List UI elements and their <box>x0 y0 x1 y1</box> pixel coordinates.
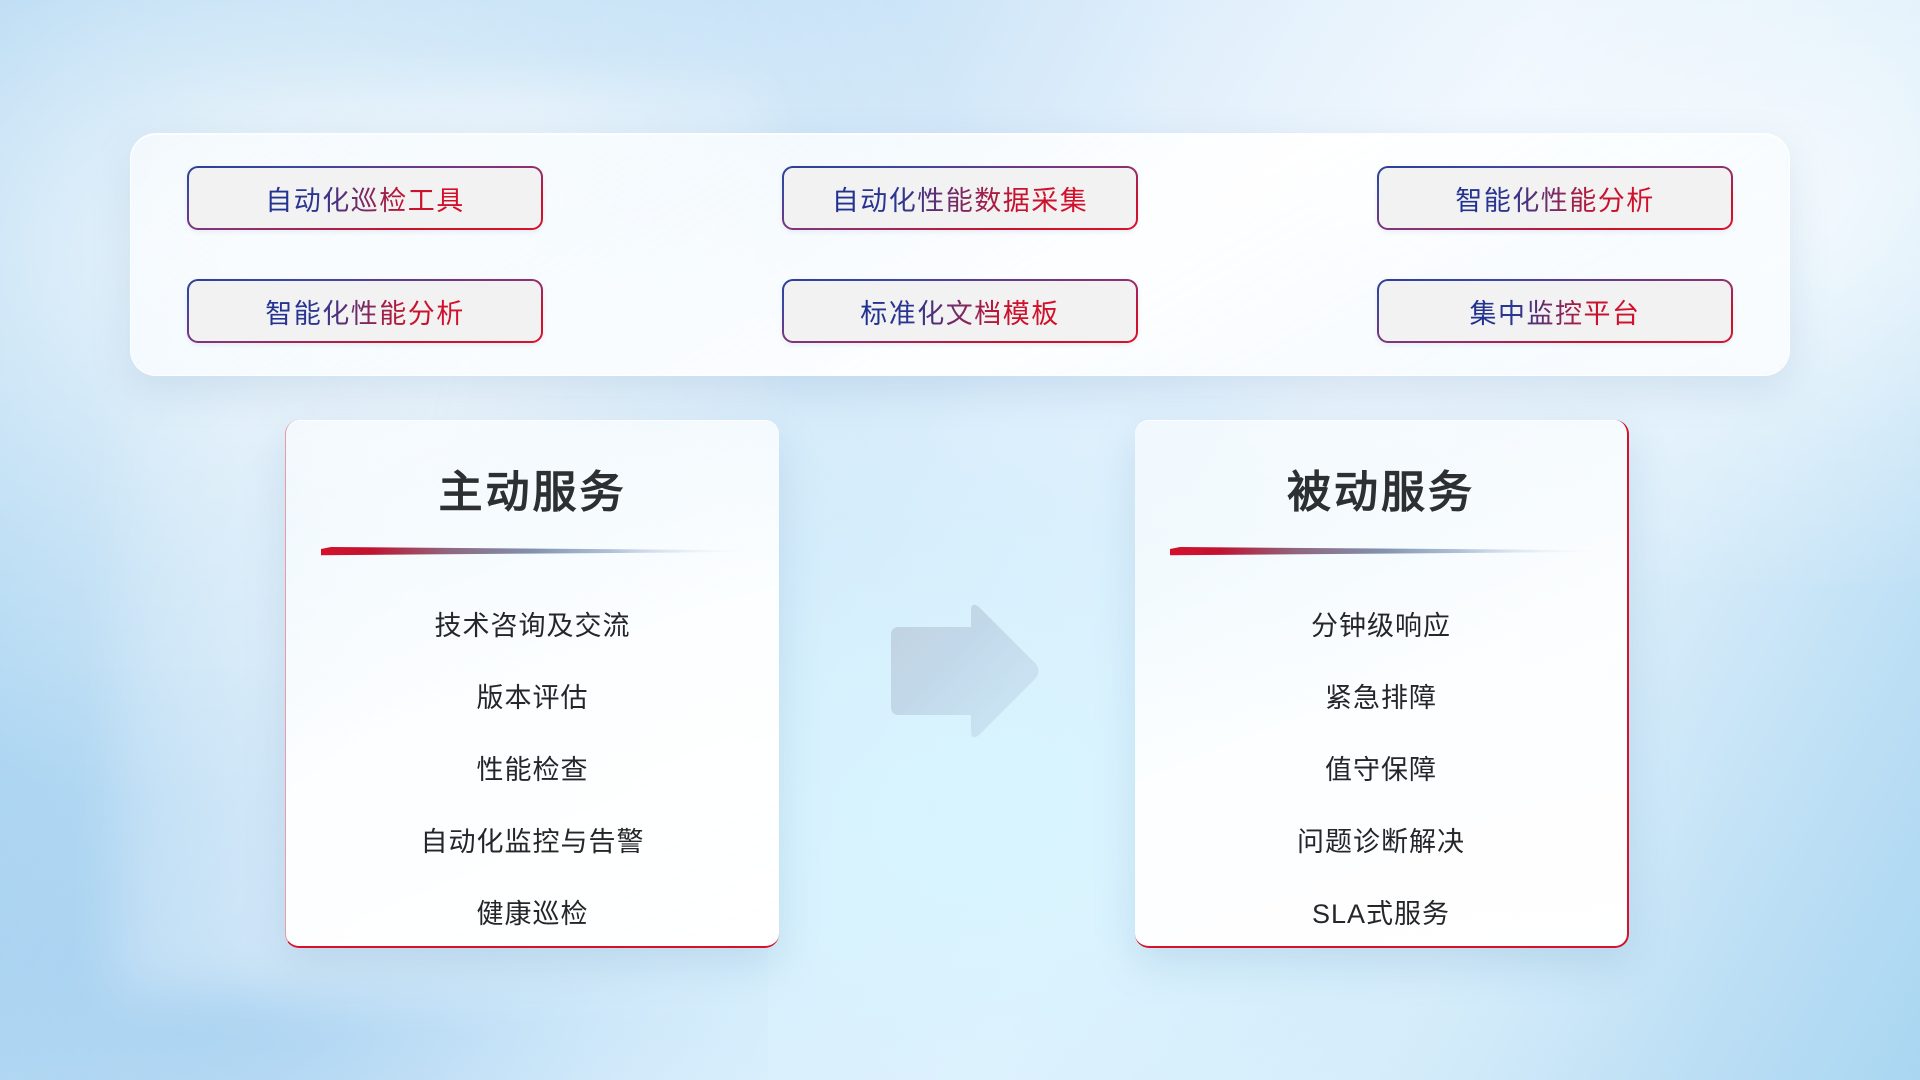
list-item: 自动化监控与告警 <box>286 803 779 875</box>
list-item: SLA式服务 <box>1135 875 1627 947</box>
list-item: 紧急排障 <box>1135 659 1627 731</box>
card-divider-proactive <box>321 547 745 559</box>
list-item: 分钟级响应 <box>1135 587 1627 659</box>
card-title-proactive: 主动服务 <box>286 456 779 520</box>
capability-pill-label: 智能化性能分析 <box>265 292 465 331</box>
capability-pill-automated-inspection-tool[interactable]: 自动化巡检工具 <box>187 166 543 230</box>
card-title-reactive: 被动服务 <box>1135 456 1627 520</box>
card-divider-reactive <box>1170 547 1594 559</box>
service-card-reactive: 被动服务 分钟级响应 紧急排障 值守保障 问题诊断解决 SLA式服务 <box>1135 420 1629 948</box>
capability-pill-label: 标准化文档模板 <box>860 292 1060 331</box>
capability-pill-label: 集中监控平台 <box>1470 292 1641 331</box>
capability-pill-standardized-document-template[interactable]: 标准化文档模板 <box>782 279 1138 343</box>
capability-row-1: 自动化巡检工具 自动化性能数据采集 智能化性能分析 <box>187 166 1733 230</box>
capability-pill-automated-performance-data-collection[interactable]: 自动化性能数据采集 <box>782 166 1138 230</box>
list-item: 技术咨询及交流 <box>286 587 779 659</box>
capability-pill-intelligent-performance-analysis-b[interactable]: 智能化性能分析 <box>187 279 543 343</box>
pill-surface: 智能化性能分析 <box>1379 168 1731 228</box>
pill-surface: 标准化文档模板 <box>784 281 1136 341</box>
list-item: 版本评估 <box>286 659 779 731</box>
capability-panel: 自动化巡检工具 自动化性能数据采集 智能化性能分析 智能化性能分析 标准化文档模… <box>130 133 1790 376</box>
service-card-proactive: 主动服务 技术咨询及交流 版本评估 性能检查 自动化监控与告警 健康巡检 <box>285 420 779 948</box>
capability-pill-centralized-monitoring-platform[interactable]: 集中监控平台 <box>1377 279 1733 343</box>
list-item: 问题诊断解决 <box>1135 803 1627 875</box>
capability-pill-label: 自动化性能数据采集 <box>832 179 1089 218</box>
pill-surface: 集中监控平台 <box>1379 281 1731 341</box>
list-item: 性能检查 <box>286 731 779 803</box>
pill-surface: 自动化巡检工具 <box>189 168 541 228</box>
arrow-right-icon <box>883 601 1041 743</box>
pill-surface: 智能化性能分析 <box>189 281 541 341</box>
pill-surface: 自动化性能数据采集 <box>784 168 1136 228</box>
list-item: 值守保障 <box>1135 731 1627 803</box>
capability-row-2: 智能化性能分析 标准化文档模板 集中监控平台 <box>187 279 1733 343</box>
capability-pill-label: 自动化巡检工具 <box>265 179 465 218</box>
list-item: 健康巡检 <box>286 875 779 947</box>
capability-pill-label: 智能化性能分析 <box>1455 179 1655 218</box>
service-list-proactive: 技术咨询及交流 版本评估 性能检查 自动化监控与告警 健康巡检 <box>286 587 779 947</box>
service-list-reactive: 分钟级响应 紧急排障 值守保障 问题诊断解决 SLA式服务 <box>1135 587 1627 947</box>
capability-pill-intelligent-performance-analysis-a[interactable]: 智能化性能分析 <box>1377 166 1733 230</box>
